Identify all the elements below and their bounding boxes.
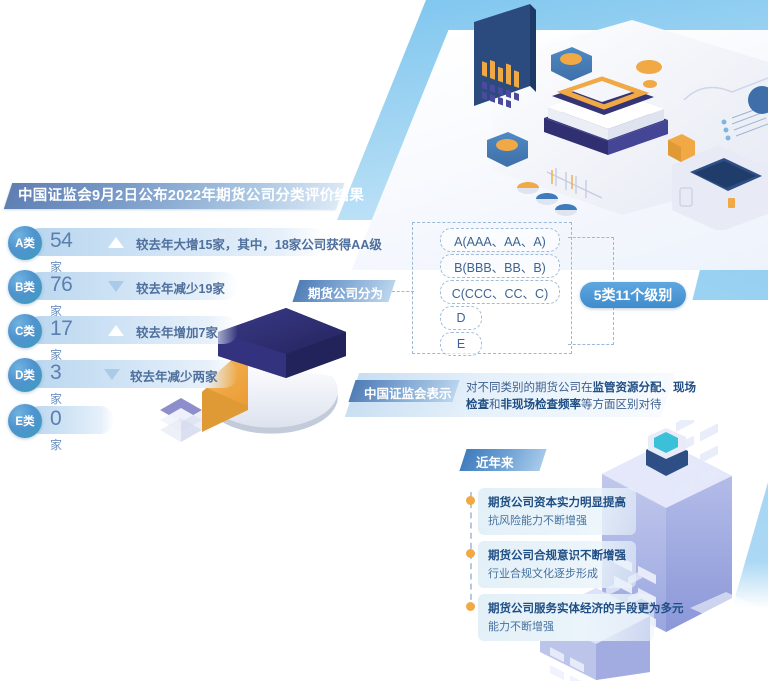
recent-item-1: 期货公司资本实力明显提高 抗风险能力不断增强: [478, 488, 636, 535]
count-value: 17: [50, 317, 72, 340]
infographic-canvas: 中国证监会9月2日公布2022年期货公司分类评价结果 A类 54家 较去年大增1…: [0, 0, 768, 681]
category-count-d: 3家: [50, 361, 62, 409]
connector-right-top: [568, 237, 614, 238]
count-unit: 家: [50, 438, 62, 452]
category-badge-c: C类: [8, 314, 42, 348]
recent-item-2: 期货公司合规意识不断增强 行业合规文化逐步形成: [478, 541, 636, 588]
page-title: 中国证监会9月2日公布2022年期货公司分类评价结果: [18, 185, 364, 207]
category-count-a: 54家: [50, 229, 72, 277]
statement-line2-bold: 非现场检查频率: [501, 399, 582, 411]
statement-line1-pre: 对不同类别的期货公司在: [466, 382, 593, 394]
grade-pill-c: C(CCC、CC、C): [440, 280, 560, 304]
category-desc-c: 较去年增加7家: [136, 322, 218, 341]
count-unit: 家: [50, 392, 62, 406]
grade-pill-b: B(BBB、BB、B): [440, 254, 560, 278]
triangle-down-icon: [104, 369, 120, 380]
count-value: 0: [50, 407, 61, 430]
count-value: 54: [50, 229, 72, 252]
count-value: 76: [50, 273, 72, 296]
grade-pill-e: E: [440, 332, 482, 356]
statement-line2-post: 等方面区别对待: [581, 399, 662, 411]
category-count-c: 17家: [50, 317, 72, 365]
statement-label: 中国证监会表示: [364, 383, 452, 402]
grade-pill-d: D: [440, 306, 482, 330]
statement-text: 对不同类别的期货公司在监管资源分配、现场检查和非现场检查频率等方面区别对待: [466, 380, 696, 414]
recent-label: 近年来: [476, 452, 514, 471]
recent-item-1-sub: 抗风险能力不断增强: [488, 512, 628, 528]
recent-bullet-icon: [466, 602, 475, 611]
triangle-up-icon: [108, 325, 124, 336]
classification-label: 期货公司分为: [308, 283, 383, 302]
statement-line1-post: 和: [489, 399, 501, 411]
connector-left: [392, 291, 414, 292]
recent-item-3-sub: 能力不断增强: [488, 618, 646, 634]
triangle-down-icon: [108, 281, 124, 292]
layered-diamond-icon: [158, 396, 204, 448]
category-badge-d: D类: [8, 358, 42, 392]
triangle-up-icon: [108, 237, 124, 248]
category-count-b: 76家: [50, 273, 72, 321]
category-count-e: 0家: [50, 407, 62, 455]
category-badge-a: A类: [8, 226, 42, 260]
count-value: 3: [50, 361, 61, 384]
category-badge-b: B类: [8, 270, 42, 304]
connector-right-bottom: [568, 344, 614, 345]
recent-item-3: 期货公司服务实体经济的手段更为多元 能力不断增强: [478, 594, 654, 641]
classification-summary-badge: 5类11个级别: [580, 282, 686, 308]
category-desc-b: 较去年减少19家: [136, 278, 225, 297]
recent-bullet-icon: [466, 496, 475, 505]
recent-item-1-title: 期货公司资本实力明显提高: [488, 494, 628, 510]
category-badge-e: E类: [8, 404, 42, 438]
isometric-tech-illustration-icon: [432, 0, 768, 230]
grade-pill-a: A(AAA、AA、A): [440, 228, 560, 252]
recent-item-3-title: 期货公司服务实体经济的手段更为多元: [488, 600, 646, 616]
recent-item-2-sub: 行业合规文化逐步形成: [488, 565, 628, 581]
category-desc-d: 较去年减少两家: [130, 366, 218, 385]
recent-item-2-title: 期货公司合规意识不断增强: [488, 547, 628, 563]
recent-bullet-icon: [466, 549, 475, 558]
category-desc-a: 较去年大增15家，其中，18家公司获得AA级: [136, 234, 382, 253]
